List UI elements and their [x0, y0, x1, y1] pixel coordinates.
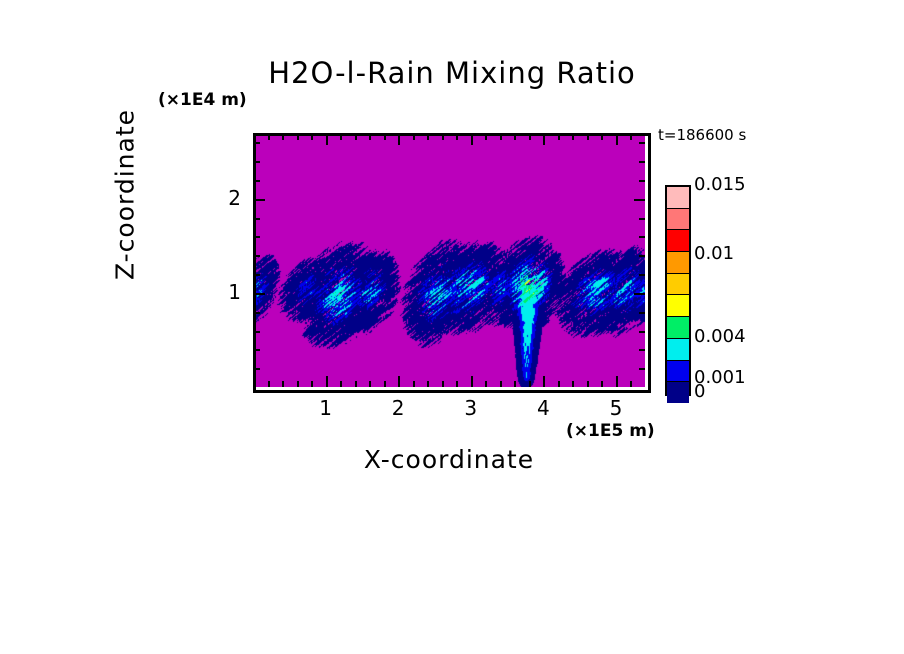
time-annotation: t=186600 s: [658, 126, 746, 144]
figure-canvas: H2O-l-Rain Mixing Ratio (×1E4 m) t=18660…: [0, 0, 904, 654]
y-tick-right-0.2: [639, 368, 645, 370]
y-tick-1.4: [254, 255, 260, 257]
y-tick-0.2: [254, 368, 260, 370]
x-tick-top-1.2: [340, 134, 342, 140]
x-tick-top-2.4: [427, 134, 429, 140]
y-tick-1.0: [254, 293, 265, 295]
colorbar: [665, 185, 691, 396]
x-tick-top-1.4: [355, 134, 357, 140]
colorbar-label-0.015: 0.015: [694, 174, 746, 195]
x-tick-top-3.4: [500, 134, 502, 140]
x-tick-3.0: [471, 376, 473, 387]
y-tick-right-2.4: [639, 161, 645, 163]
x-tick-4.4: [572, 381, 574, 387]
x-tick-0.8: [311, 381, 313, 387]
y-tick-right-2.6: [639, 142, 645, 144]
x-tick-top-0.6: [297, 134, 299, 140]
x-tick-3.2: [485, 381, 487, 387]
x-tick-top-2.2: [413, 134, 415, 140]
x-tick-top-3.8: [529, 134, 531, 140]
y-axis-unit-label: (×1E4 m): [158, 90, 247, 110]
x-axis-unit-label: (×1E5 m): [566, 421, 655, 441]
y-tick-2.2: [254, 180, 260, 182]
colorbar-band-3: [667, 252, 689, 274]
x-tick-4.6: [587, 381, 589, 387]
colorbar-band-9: [667, 382, 689, 403]
x-tick-0.4: [282, 381, 284, 387]
y-tick-right-1.2: [639, 274, 645, 276]
y-tick-2.4: [254, 161, 260, 163]
x-tick-top-3.0: [471, 134, 473, 145]
y-tick-label-1: 1: [205, 280, 241, 304]
colorbar-label-0.01: 0.01: [694, 243, 734, 264]
colorbar-band-8: [667, 361, 689, 383]
x-tick-top-2.8: [456, 134, 458, 140]
x-tick-top-5.2: [630, 134, 632, 140]
x-tick-5.2: [630, 381, 632, 387]
x-tick-2.4: [427, 381, 429, 387]
x-tick-1.2: [340, 381, 342, 387]
x-tick-top-0.2: [268, 134, 270, 140]
x-tick-3.4: [500, 381, 502, 387]
x-tick-label-4: 4: [523, 396, 563, 420]
x-tick-top-3.6: [514, 134, 516, 140]
colorbar-band-7: [667, 339, 689, 361]
colorbar-band-4: [667, 274, 689, 296]
x-tick-4.8: [601, 381, 603, 387]
x-tick-top-1.8: [384, 134, 386, 140]
x-tick-5.0: [616, 376, 618, 387]
x-tick-top-0.4: [282, 134, 284, 140]
y-tick-right-2.0: [634, 199, 645, 201]
x-tick-top-4.2: [558, 134, 560, 140]
x-tick-label-2: 2: [378, 396, 418, 420]
x-tick-3.8: [529, 381, 531, 387]
y-tick-right-1.6: [639, 236, 645, 238]
x-tick-top-4.6: [587, 134, 589, 140]
colorbar-band-2: [667, 230, 689, 252]
x-tick-1.8: [384, 381, 386, 387]
colorbar-band-6: [667, 317, 689, 339]
x-tick-top-4.8: [601, 134, 603, 140]
x-tick-1.6: [369, 381, 371, 387]
x-tick-top-1.0: [326, 134, 328, 145]
x-tick-1.0: [326, 376, 328, 387]
y-tick-right-0.6: [639, 331, 645, 333]
x-tick-2.8: [456, 381, 458, 387]
y-tick-label-2: 2: [205, 186, 241, 210]
x-tick-top-4.0: [543, 134, 545, 145]
x-tick-top-5.0: [616, 134, 618, 145]
x-tick-top-2.0: [398, 134, 400, 145]
x-tick-0.6: [297, 381, 299, 387]
y-tick-right-0.8: [639, 312, 645, 314]
x-tick-top-3.2: [485, 134, 487, 140]
x-tick-1.4: [355, 381, 357, 387]
y-tick-2.6: [254, 142, 260, 144]
x-tick-2.6: [442, 381, 444, 387]
plot-frame: [253, 133, 651, 393]
x-axis-title: X-coordinate: [253, 445, 645, 474]
y-tick-right-2.2: [639, 180, 645, 182]
x-tick-4.2: [558, 381, 560, 387]
y-tick-0.4: [254, 349, 260, 351]
x-tick-top-1.6: [369, 134, 371, 140]
x-tick-top-2.6: [442, 134, 444, 140]
y-axis-title: Z-coordinate: [111, 65, 140, 325]
colorbar-band-0: [667, 187, 689, 209]
x-tick-4.0: [543, 376, 545, 387]
y-tick-0.8: [254, 312, 260, 314]
x-tick-label-3: 3: [451, 396, 491, 420]
colorbar-label-0: 0: [694, 381, 705, 402]
colorbar-label-0.004: 0.004: [694, 326, 746, 347]
y-tick-0.6: [254, 331, 260, 333]
y-tick-2.0: [254, 199, 265, 201]
x-tick-2.0: [398, 376, 400, 387]
y-tick-right-1.8: [639, 218, 645, 220]
y-tick-right-0.4: [639, 349, 645, 351]
x-tick-top-4.4: [572, 134, 574, 140]
x-tick-label-5: 5: [596, 396, 636, 420]
colorbar-band-5: [667, 295, 689, 317]
y-tick-1.2: [254, 274, 260, 276]
y-tick-1.8: [254, 218, 260, 220]
colorbar-band-1: [667, 209, 689, 231]
x-tick-label-1: 1: [306, 396, 346, 420]
x-tick-2.2: [413, 381, 415, 387]
y-tick-1.6: [254, 236, 260, 238]
x-tick-3.6: [514, 381, 516, 387]
y-tick-right-1.0: [634, 293, 645, 295]
y-tick-right-1.4: [639, 255, 645, 257]
x-tick-0.2: [268, 381, 270, 387]
x-tick-top-0.8: [311, 134, 313, 140]
